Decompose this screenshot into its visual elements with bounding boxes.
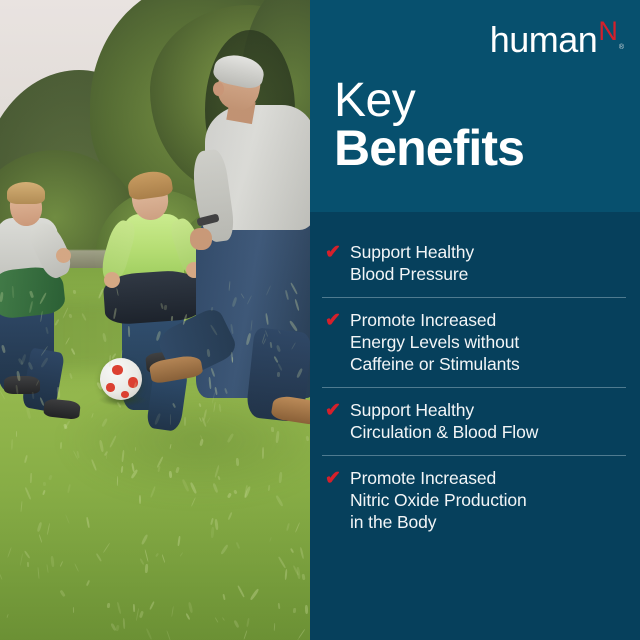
benefit-text: Support Healthy Circulation & Blood Flow: [350, 399, 538, 443]
benefit-text: Promote Increased Energy Levels without …: [350, 309, 520, 375]
young-man-hair: [7, 182, 45, 204]
benefit-line: Nitric Oxide Production: [350, 490, 527, 510]
registered-trademark-icon: ®: [619, 44, 624, 51]
grass-blade: [277, 603, 280, 609]
ball-spot: [106, 383, 115, 392]
check-icon: ✔: [322, 309, 350, 333]
check-icon: ✔: [322, 467, 350, 491]
logo-wordmark: human: [490, 22, 598, 58]
grass-blade: [305, 605, 308, 614]
grass-blade: [27, 562, 29, 567]
grass-blade: [271, 427, 274, 432]
ball-spot: [112, 365, 123, 375]
benefit-line: Caffeine or Stimulants: [350, 354, 520, 374]
page-title: Key Benefits: [334, 78, 524, 173]
hero-photo: [0, 0, 310, 640]
humann-logo: human N ®: [490, 22, 624, 58]
grass-blade: [145, 564, 148, 573]
older-man-hand: [190, 228, 212, 250]
grass-blade: [273, 623, 275, 631]
benefit-text: Support Healthy Blood Pressure: [350, 241, 474, 285]
grass-blade: [16, 431, 17, 437]
panel-header: human N ® Key Benefits: [310, 0, 640, 212]
grass-blade: [262, 447, 264, 459]
grass-blade: [42, 482, 45, 487]
check-icon: ✔: [322, 399, 350, 423]
young-man-hand: [56, 248, 71, 263]
older-man-ear: [213, 82, 224, 96]
page-title-line2: Benefits: [334, 123, 524, 173]
list-item: ✔ Support Healthy Circulation & Blood Fl…: [322, 387, 626, 455]
benefit-text: Promote Increased Nitric Oxide Productio…: [350, 467, 527, 533]
benefit-line: Support Healthy: [350, 242, 474, 262]
benefit-line: Blood Pressure: [350, 264, 468, 284]
benefit-line: Energy Levels without: [350, 332, 519, 352]
grass-blade: [278, 471, 282, 482]
logo-n-icon: N: [598, 18, 618, 45]
young-man-shoe-left: [4, 376, 40, 394]
list-item: ✔ Promote Increased Nitric Oxide Product…: [322, 455, 626, 545]
benefit-line: in the Body: [350, 512, 436, 532]
benefit-line: Promote Increased: [350, 310, 496, 330]
grass-blade: [73, 290, 76, 294]
content-panel: human N ® Key Benefits ✔ Support Healthy…: [310, 0, 640, 640]
boy-hand-left: [104, 272, 120, 288]
list-item: ✔ Support Healthy Blood Pressure: [322, 230, 626, 297]
check-icon: ✔: [322, 241, 350, 265]
grass-blade: [170, 315, 173, 320]
list-item: ✔ Promote Increased Energy Levels withou…: [322, 297, 626, 387]
grass-blade: [184, 417, 186, 426]
grass-blade: [269, 342, 272, 348]
key-benefits-card: human N ® Key Benefits ✔ Support Healthy…: [0, 0, 640, 640]
benefit-line: Promote Increased: [350, 468, 496, 488]
ball-spot: [121, 391, 129, 398]
page-title-line1: Key: [334, 78, 524, 125]
benefits-list: ✔ Support Healthy Blood Pressure ✔ Promo…: [310, 212, 640, 640]
grass-blade: [127, 326, 129, 337]
benefit-line: Support Healthy: [350, 400, 474, 420]
benefit-line: Circulation & Blood Flow: [350, 422, 538, 442]
grass-blade: [31, 392, 34, 399]
young-man-shoe-right: [43, 398, 81, 420]
